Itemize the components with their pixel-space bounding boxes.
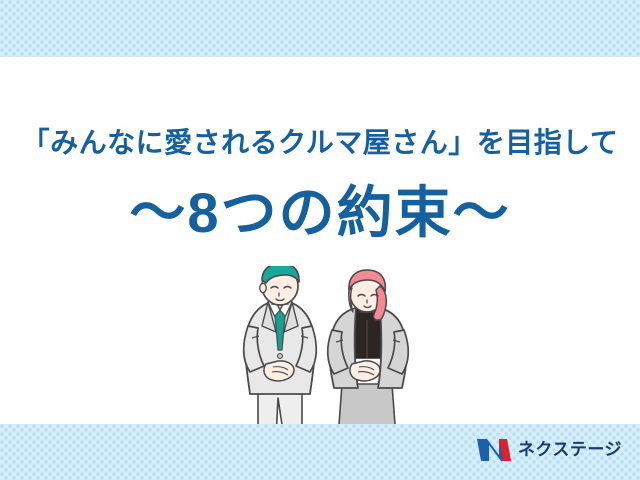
nextage-n-mark (477, 437, 511, 463)
logo-wordmark: ネクステージ (518, 440, 622, 460)
top-dotted-band (0, 0, 640, 57)
male-jacket-button (278, 354, 283, 359)
bowing-staff-illustration (228, 266, 418, 438)
headline-main-title: ～8つの約束～ (0, 180, 640, 246)
headline-subtitle: 「みんなに愛されるクルマ屋さん」を目指して (0, 126, 640, 160)
male-ear (260, 283, 266, 292)
male-clasped-hands (264, 361, 294, 381)
promo-banner: 「みんなに愛されるクルマ屋さん」を目指して ～8つの約束～ (0, 0, 640, 480)
female-clasped-hands (350, 361, 380, 381)
female-staff-bowing (328, 270, 409, 438)
male-staff-bowing (244, 266, 317, 438)
nextage-logo: ネクステージ (477, 437, 622, 463)
